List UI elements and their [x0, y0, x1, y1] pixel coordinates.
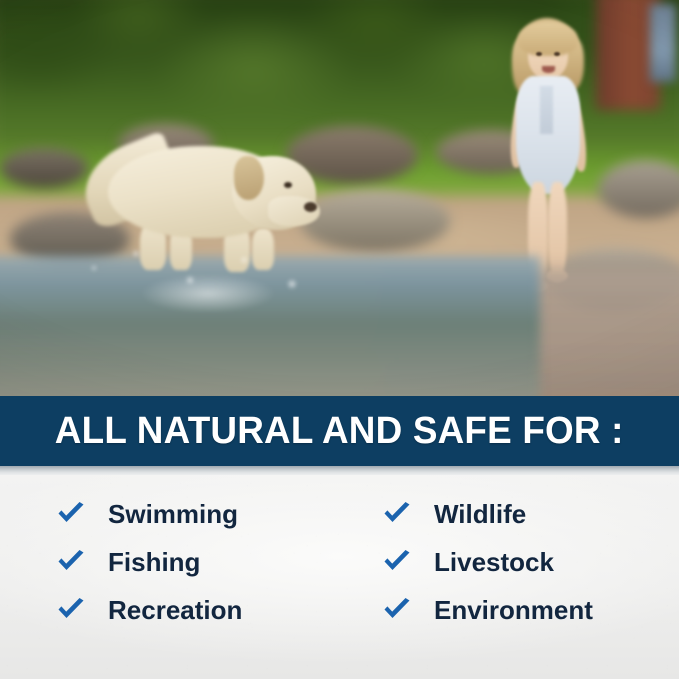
hero-photo — [0, 0, 679, 396]
check-icon — [56, 597, 86, 623]
headline-text: ALL NATURAL AND SAFE FOR : — [55, 410, 624, 453]
photo-water-splash — [58, 236, 358, 316]
girl-eye — [554, 52, 560, 56]
girl-mouth — [542, 66, 555, 73]
benefits-panel: Swimming Fishing Recreation — [0, 475, 679, 679]
check-icon — [56, 501, 86, 527]
girl-eye — [536, 52, 542, 56]
benefit-label: Recreation — [108, 597, 242, 623]
girl-hair — [518, 22, 578, 56]
photo-building-door — [650, 4, 676, 82]
check-icon — [382, 549, 412, 575]
check-icon — [382, 597, 412, 623]
check-icon — [56, 549, 86, 575]
check-icon — [382, 501, 412, 527]
benefits-column-left: Swimming Fishing Recreation — [56, 497, 382, 679]
benefit-item-swimming: Swimming — [56, 497, 382, 531]
headline-banner: ALL NATURAL AND SAFE FOR : — [0, 396, 679, 466]
benefit-label: Livestock — [434, 549, 554, 575]
benefit-item-recreation: Recreation — [56, 593, 382, 627]
girl-leg — [548, 182, 567, 282]
benefit-item-environment: Environment — [382, 593, 679, 627]
dog-nose — [304, 202, 317, 212]
benefit-label: Environment — [434, 597, 593, 623]
product-infographic: ALL NATURAL AND SAFE FOR : Swimming Fish… — [0, 0, 679, 679]
photo-rock — [0, 148, 88, 188]
benefit-item-livestock: Livestock — [382, 545, 679, 579]
benefit-label: Fishing — [108, 549, 200, 575]
dog-eye — [284, 182, 292, 188]
benefit-item-wildlife: Wildlife — [382, 497, 679, 531]
banner-underline — [0, 466, 679, 475]
benefit-label: Swimming — [108, 501, 238, 527]
benefit-item-fishing: Fishing — [56, 545, 382, 579]
benefit-label: Wildlife — [434, 501, 526, 527]
benefits-column-right: Wildlife Livestock Environment — [382, 497, 679, 679]
dog-ear — [234, 156, 264, 200]
benefits-columns: Swimming Fishing Recreation — [0, 475, 679, 679]
girl-dress-placket — [540, 86, 553, 134]
